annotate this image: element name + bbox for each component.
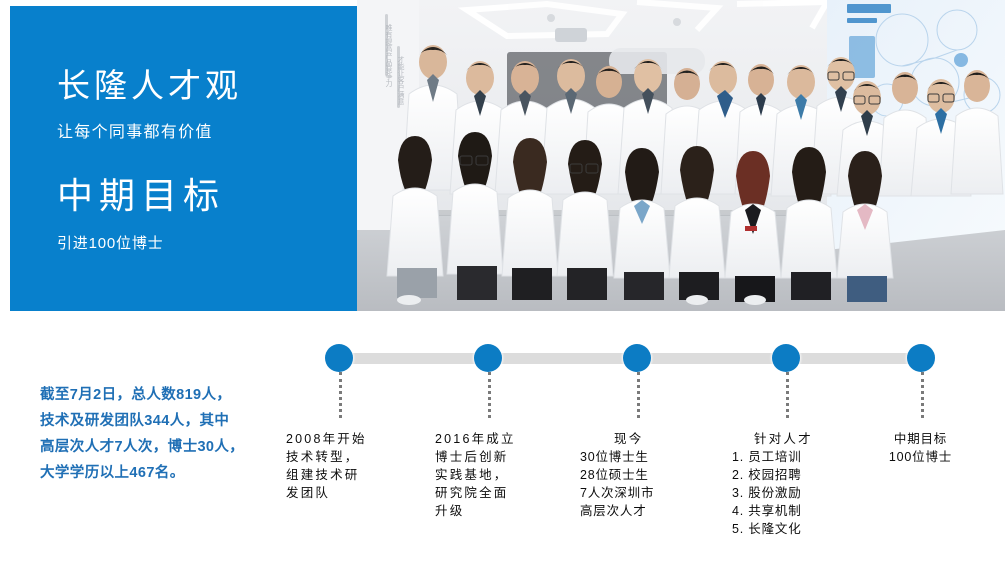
label-4-line-2: 2. 校园招聘 — [732, 466, 813, 484]
timeline-connector-2 — [488, 372, 491, 418]
timeline-label-2: 2016年成立 博士后创新 实践基地， 研究院全面 升级 — [435, 430, 516, 520]
timeline-connector-5 — [921, 372, 924, 418]
label-1-line-1: 2008年开始 — [286, 430, 367, 448]
label-4-line-4: 4. 共享机制 — [732, 502, 813, 520]
summary-line-4: 大学学历以上467名。 — [40, 465, 185, 481]
hero-title: 长隆人才观 — [57, 66, 242, 106]
timeline-node-4[interactable] — [772, 344, 800, 372]
timeline-connector-3 — [637, 372, 640, 418]
svg-text:唯有提高产品竞争力: 唯有提高产品竞争力 — [385, 23, 393, 88]
timeline-label-1: 2008年开始 技术转型， 组建技术研 发团队 — [286, 430, 367, 502]
timeline-node-3[interactable] — [623, 344, 651, 372]
label-1-line-3: 组建技术研 — [286, 466, 367, 484]
hero-panel: 长隆人才观 让每个同事都有价值 中期目标 引进100位博士 — [10, 6, 357, 311]
timeline-node-1[interactable] — [325, 344, 353, 372]
summary-line-3: 高层次人才7人次，博士30人， — [40, 439, 244, 455]
label-4-line-5: 5. 长隆文化 — [732, 520, 813, 538]
summary-line-2: 技术及研发团队344人，其中 — [40, 413, 229, 429]
slide-canvas: 长隆人才观 让每个同事都有价值 中期目标 引进100位博士 — [0, 0, 1005, 569]
hero-subtitle-secondary: 引进100位博士 — [57, 232, 163, 253]
timeline-connector-1 — [339, 372, 342, 418]
label-1-line-4: 发团队 — [286, 484, 367, 502]
summary-line-1: 截至7月2日，总人数819人， — [40, 387, 231, 403]
timeline-label-4: 针对人才 1. 员工培训 2. 校园招聘 3. 股份激励 4. 共享机制 5. … — [732, 430, 813, 538]
label-3-line-4: 高层次人才 — [580, 502, 654, 520]
label-5-line-1: 中期目标 — [868, 430, 973, 448]
timeline-connector-4 — [786, 372, 789, 418]
hero-subtitle: 让每个同事都有价值 — [57, 118, 213, 142]
label-4-line-3: 3. 股份激励 — [732, 484, 813, 502]
workforce-summary: 截至7月2日，总人数819人， 技术及研发团队344人，其中 高层次人才7人次，… — [40, 382, 280, 486]
label-3-line-3: 7人次深圳市 — [580, 484, 654, 502]
label-3-line-1: 30位博士生 — [580, 448, 654, 466]
timeline-label-3: 现今 30位博士生 28位硕士生 7人次深圳市 高层次人才 — [580, 430, 654, 520]
label-4-heading: 针对人才 — [732, 430, 813, 448]
timeline-node-2[interactable] — [474, 344, 502, 372]
label-2-line-1: 2016年成立 — [435, 430, 516, 448]
label-2-line-3: 实践基地， — [435, 466, 516, 484]
label-1-line-2: 技术转型， — [286, 448, 367, 466]
label-3-line-2: 28位硕士生 — [580, 466, 654, 484]
label-3-heading: 现今 — [580, 430, 654, 448]
team-group-photo: 唯有提高产品竞争力 才能让客户满意 — [357, 0, 1005, 311]
label-2-line-2: 博士后创新 — [435, 448, 516, 466]
label-2-line-5: 升级 — [435, 502, 516, 520]
svg-text:才能让客户满意: 才能让客户满意 — [397, 55, 405, 105]
talent-timeline: 2008年开始 技术转型， 组建技术研 发团队 2016年成立 博士后创新 实践… — [300, 330, 1000, 560]
hero-title-secondary: 中期目标 — [57, 174, 225, 217]
timeline-node-5[interactable] — [907, 344, 935, 372]
label-2-line-4: 研究院全面 — [435, 484, 516, 502]
timeline-label-5: 中期目标 100位博士 — [868, 430, 973, 466]
label-4-line-1: 1. 员工培训 — [732, 448, 813, 466]
label-5-line-2: 100位博士 — [868, 448, 973, 466]
